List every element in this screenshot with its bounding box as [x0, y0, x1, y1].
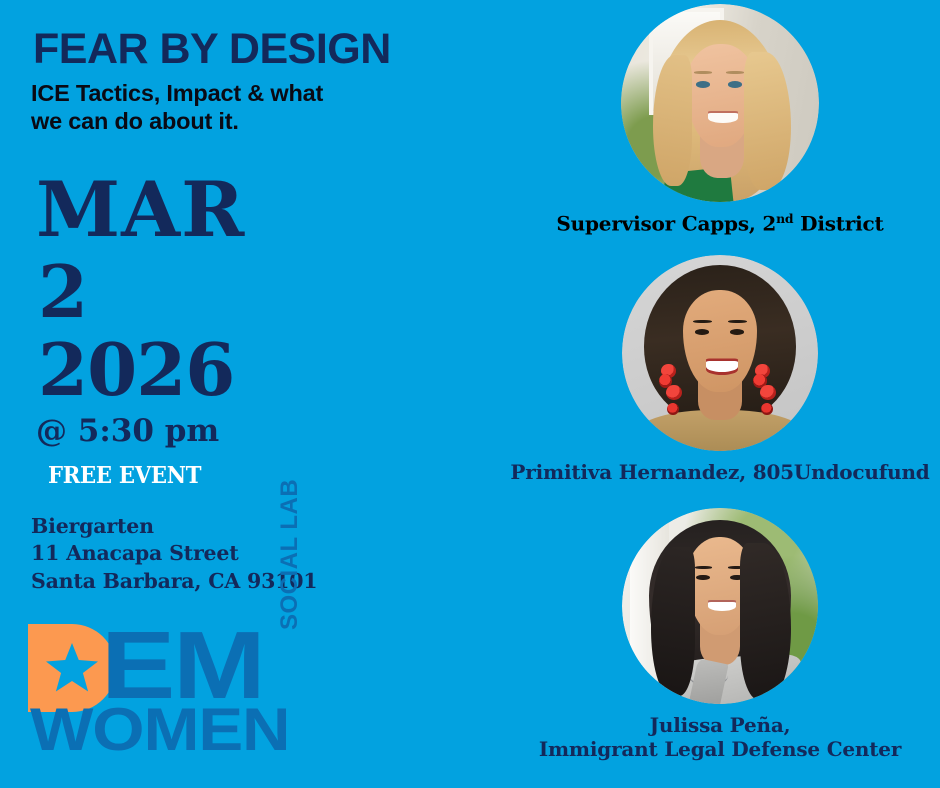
speaker-3-caption-line-2: Immigrant Legal Defense Center — [500, 738, 940, 762]
event-flyer: FEAR BY DESIGN ICE Tactics, Impact & wha… — [0, 0, 940, 788]
speaker-1-caption-prefix: Supervisor Capps, 2 — [556, 212, 776, 236]
speaker-card-1: Supervisor Capps, 2nd District — [500, 4, 940, 236]
speaker-card-3: Julissa Peña, Immigrant Legal Defense Ce… — [500, 508, 940, 761]
portrait-3-hair-front-left — [651, 547, 694, 696]
portrait-1-eye-right — [728, 81, 742, 88]
dem-women-social-lab-logo: EM WOMEN SOCIAL LAB — [28, 622, 328, 772]
venue-name: Biergarten — [31, 513, 317, 540]
venue-address: Biergarten 11 Anacapa Street Santa Barba… — [31, 513, 317, 595]
logo-social-lab-text: SOCIAL LAB — [278, 479, 302, 630]
subtitle: ICE Tactics, Impact & what we can do abo… — [31, 80, 421, 135]
page-title: FEAR BY DESIGN — [33, 28, 391, 71]
event-day: 2 — [38, 256, 88, 328]
speaker-3-caption: Julissa Peña, Immigrant Legal Defense Ce… — [500, 714, 940, 761]
speaker-2-caption: Primitiva Hernandez, 805Undocufund — [500, 461, 940, 485]
portrait-1-smile — [708, 113, 738, 123]
event-year: 2026 — [38, 334, 234, 406]
portrait-2-smile — [706, 361, 737, 372]
speaker-1-caption-suffix: District — [793, 212, 883, 236]
speaker-1-caption-ordinal: nd — [776, 211, 793, 226]
venue-street: 11 Anacapa Street — [31, 540, 317, 567]
speaker-3-caption-line-1: Julissa Peña, — [500, 714, 940, 738]
free-event-badge: FREE EVENT — [48, 464, 201, 487]
event-time: @ 5:30 pm — [36, 416, 219, 447]
portrait-supervisor-capps — [621, 4, 819, 202]
portrait-2-brow-left — [693, 320, 713, 324]
portrait-2-floral-earring-left — [659, 361, 684, 416]
portrait-julissa-pena — [622, 508, 818, 704]
speaker-1-caption: Supervisor Capps, 2nd District — [500, 212, 940, 236]
portrait-image-2 — [622, 255, 818, 451]
portrait-primitiva-hernandez — [622, 255, 818, 451]
portrait-image-1 — [621, 4, 819, 202]
portrait-image-3 — [622, 508, 818, 704]
subtitle-line-1: ICE Tactics, Impact & what — [31, 80, 421, 108]
portrait-1-hair-front-left — [653, 55, 693, 186]
portrait-1-eye-left — [696, 81, 710, 88]
portrait-3-smile — [708, 602, 735, 611]
portrait-3-brow-left — [695, 566, 713, 569]
venue-city-state-zip: Santa Barbara, CA 93101 — [31, 568, 317, 595]
speaker-card-2: Primitiva Hernandez, 805Undocufund — [500, 255, 940, 485]
event-month: MAR — [36, 172, 245, 248]
logo-word-women: WOMEN — [30, 700, 289, 760]
subtitle-line-2: we can do about it. — [31, 108, 421, 136]
flyer-left-column: FEAR BY DESIGN ICE Tactics, Impact & wha… — [0, 0, 560, 788]
portrait-3-eye-left — [696, 575, 710, 580]
portrait-2-floral-earring-right — [753, 361, 778, 416]
